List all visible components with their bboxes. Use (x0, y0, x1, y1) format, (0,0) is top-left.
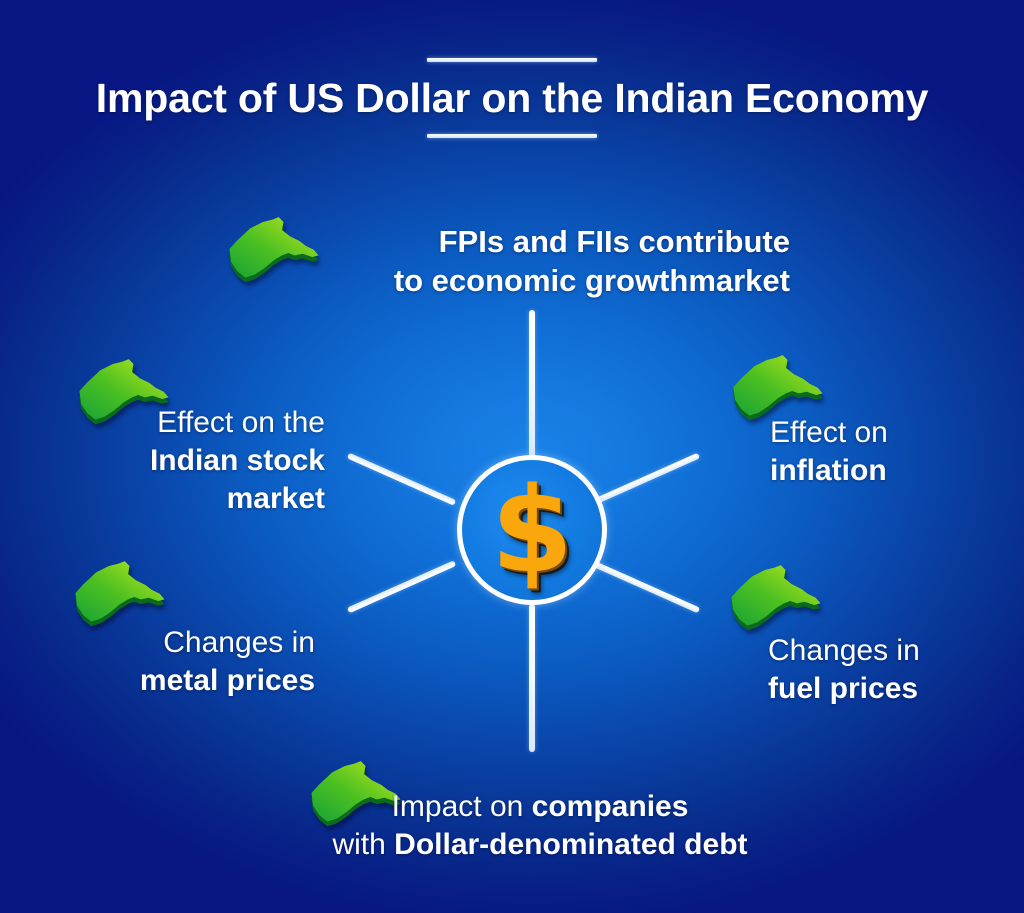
node-line-1-regular: Impact on (392, 790, 532, 823)
node-line-2: Indian stock (150, 444, 325, 477)
spoke-bottom (529, 604, 535, 752)
node-line-1-bold: companies (532, 790, 689, 823)
india-map-icon (730, 352, 826, 422)
node-line-1: Changes in (768, 632, 1024, 670)
india-map-icon (728, 562, 824, 632)
node-line-3: market (227, 482, 325, 515)
node-label-fpi-fii: FPIs and FIIs contribute to economic gro… (0, 222, 790, 300)
dollar-sign-icon: $ (457, 455, 607, 605)
node-line-2: metal prices (140, 664, 315, 697)
node-line-2: to economic growthmarket (0, 261, 790, 300)
node-line-1: Effect on (770, 414, 1024, 452)
node-label-inflation: Effect on inflation (770, 414, 1024, 490)
node-line-2: inflation (770, 454, 887, 487)
node-label-metal-prices: Changes in metal prices (0, 624, 315, 700)
spoke-right-lower (591, 560, 700, 613)
title-rule-top (427, 58, 597, 62)
node-line-1: Effect on the (0, 404, 325, 442)
node-line-2-regular: with (332, 828, 394, 861)
hub-circle (457, 455, 607, 605)
page-title: Impact of US Dollar on the Indian Econom… (0, 76, 1024, 120)
spoke-left-upper (347, 453, 456, 506)
node-label-fuel-prices: Changes in fuel prices (768, 632, 1024, 708)
spoke-right-upper (591, 453, 700, 506)
india-map-icon (72, 558, 168, 628)
title-block: Impact of US Dollar on the Indian Econom… (0, 58, 1024, 138)
node-line-2-bold: Dollar-denominated debt (394, 828, 747, 861)
title-rule-bottom (427, 134, 597, 138)
spoke-top (529, 310, 535, 458)
spoke-left-lower (347, 560, 456, 613)
node-line-2: fuel prices (768, 672, 918, 705)
infographic-canvas: Impact of US Dollar on the Indian Econom… (0, 0, 1024, 913)
node-line-1: FPIs and FIIs contribute (0, 222, 790, 261)
node-label-indian-stock-market: Effect on the Indian stock market (0, 404, 325, 517)
node-label-dollar-denominated-debt: Impact on companies with Dollar-denomina… (120, 788, 960, 864)
node-line-1: Changes in (0, 624, 315, 662)
